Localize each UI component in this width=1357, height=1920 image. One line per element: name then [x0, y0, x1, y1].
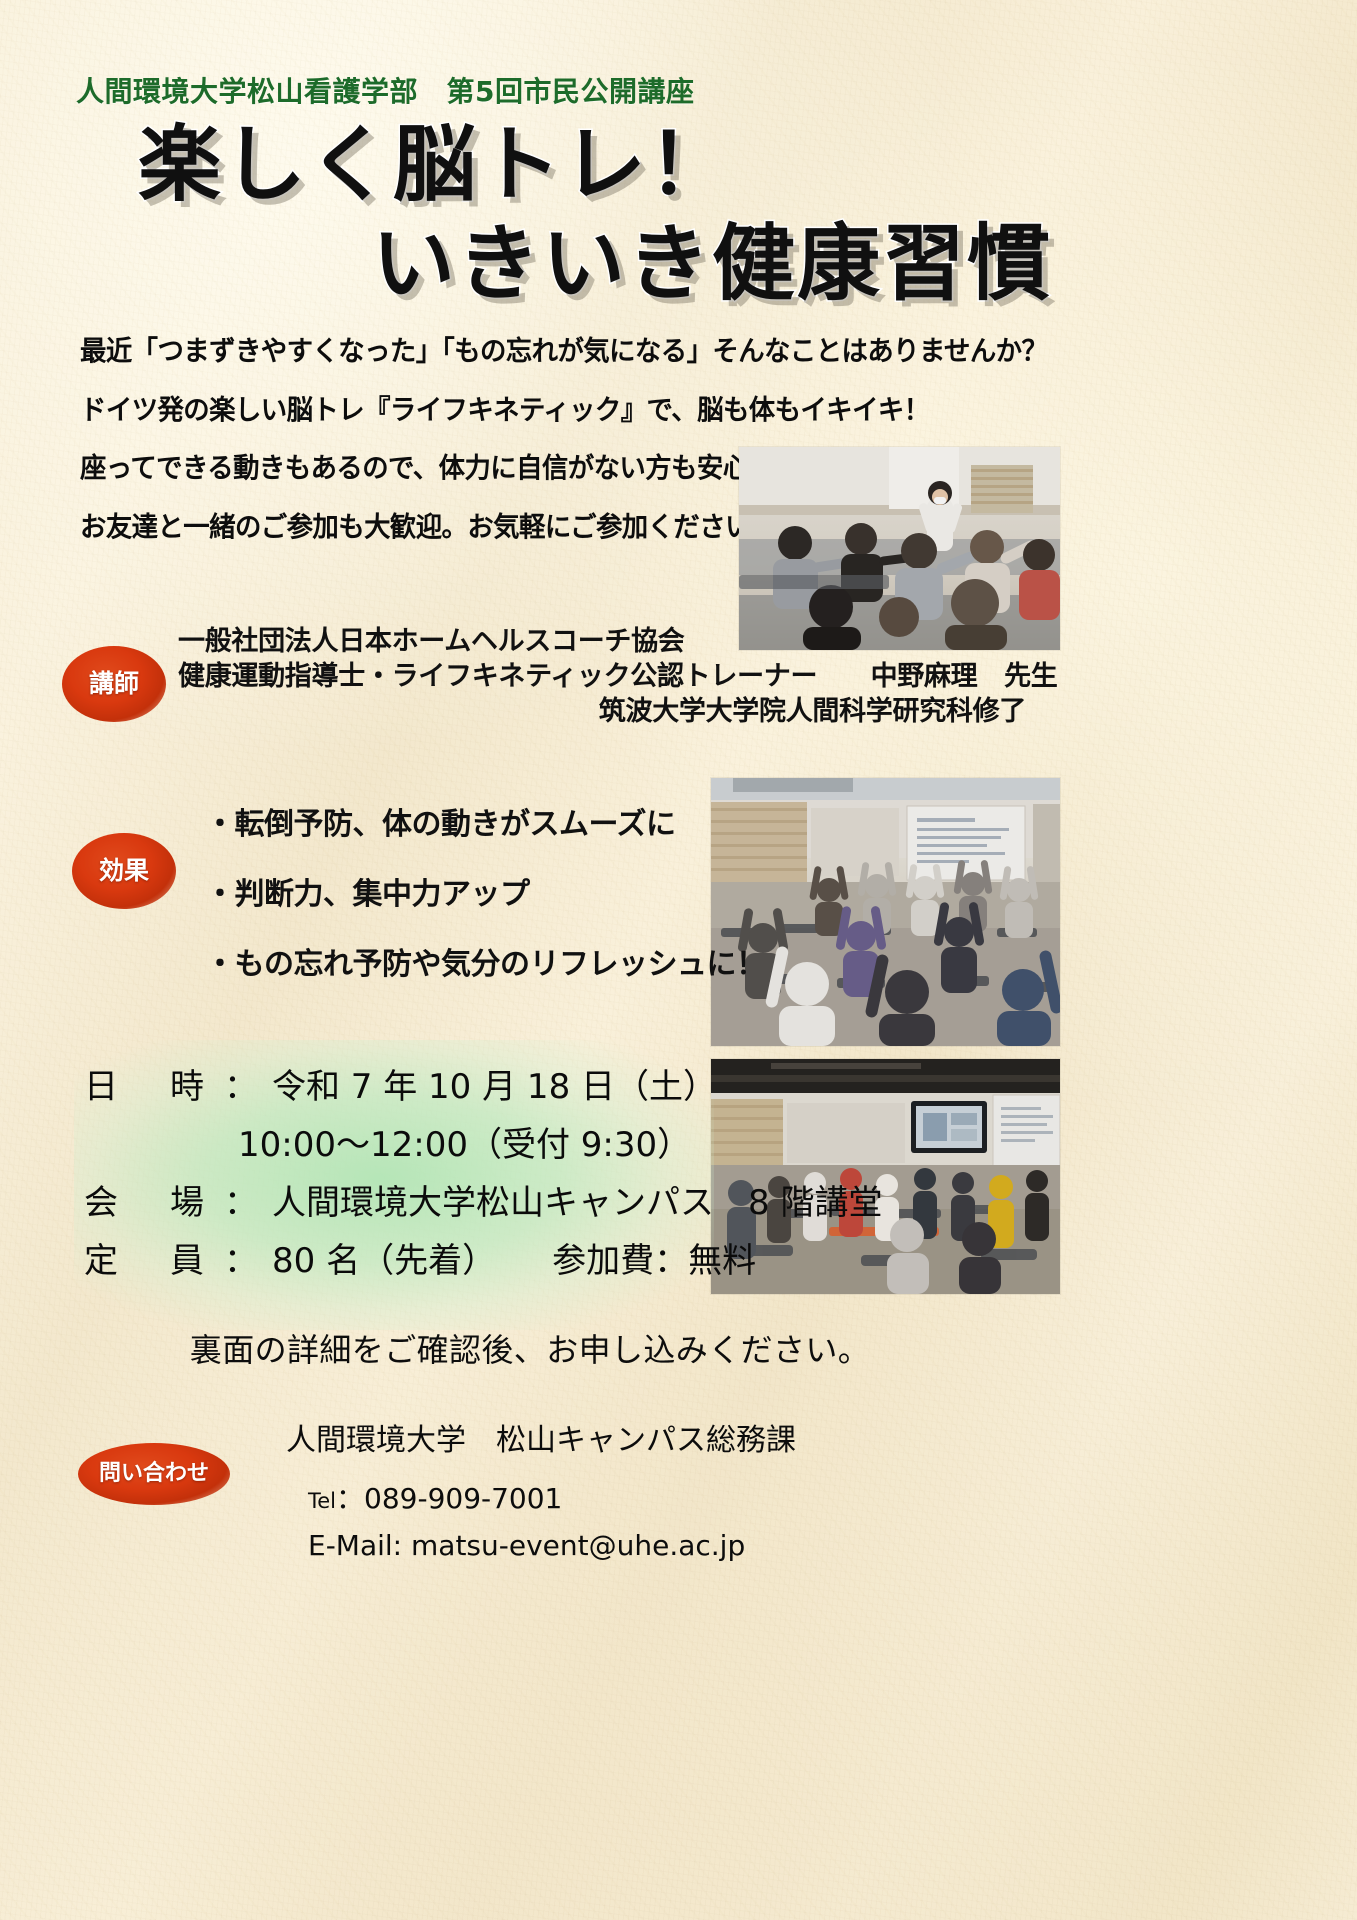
poster-title: 楽しく脳トレ！ いきいき健康習慣 [0, 118, 1000, 311]
badge-effect-label: 効果 [99, 858, 149, 884]
detail-colon-date: ： [224, 1067, 258, 1107]
lead-line-2: ドイツ発の楽しい脳トレ『ライフキネティック』で、脳も体もイキイキ！ [80, 397, 925, 425]
poster-kicker: 人間環境大学松山看護学部 第5回市民公開講座 [76, 70, 695, 110]
detail-colon-venue: ： [224, 1183, 258, 1223]
effect-item-3: ・もの忘れ予防や気分のリフレッシュに！ [205, 950, 766, 980]
detail-row-capacity: 定 員：80 名（先着）参加費：無料 [84, 1244, 882, 1278]
title-line-1: 楽しく脳トレ！ [138, 118, 1000, 213]
detail-colon-fee: ： [654, 1241, 688, 1281]
effect-item-2: ・判断力、集中力アップ [205, 880, 766, 910]
detail-label-fee: 参加費 [552, 1241, 654, 1281]
event-details: 日 時：令和 7 年 10 月 18 日（土） 10:00～12:00（受付 9… [84, 1070, 882, 1302]
lead-line-1: 最近「つまずきやすくなった」「もの忘れが気になる」そんなことはありませんか？ [80, 338, 925, 366]
detail-row-date: 日 時：令和 7 年 10 月 18 日（土） [84, 1070, 882, 1104]
contact-tel-value: ：089-909-7001 [336, 1482, 562, 1515]
poster-content: 人間環境大学松山看護学部 第5回市民公開講座 楽しく脳トレ！ いきいき健康習慣 … [0, 0, 1357, 1920]
badge-contact: 問い合わせ [78, 1443, 230, 1505]
badge-effect: 効果 [72, 833, 176, 909]
contact-email-label: E-Mail: [308, 1529, 402, 1562]
contact-block: 人間環境大学 松山キャンパス総務課 Tel：089-909-7001 E-Mai… [286, 1415, 796, 1574]
apply-note: 裏面の詳細をご確認後、お申し込みください。 [0, 1325, 1060, 1371]
contact-email: E-Mail: matsu-event@uhe.ac.jp [286, 1529, 796, 1562]
effect-item-1: ・転倒予防、体の動きがスムーズに [205, 810, 766, 840]
contact-org: 人間環境大学 松山キャンパス総務課 [286, 1415, 796, 1459]
title-line-2: いきいき健康習慣 [372, 217, 1000, 312]
lecturer-education: 筑波大学大学院人間科学研究科修了 [178, 694, 1058, 729]
badge-lecturer-label: 講師 [89, 671, 139, 697]
detail-label-venue: 会 場 [84, 1186, 224, 1220]
detail-value-time: 10:00～12:00（受付 9:30） [238, 1125, 691, 1165]
detail-label-capacity: 定 員 [84, 1244, 224, 1278]
effects-list: ・転倒予防、体の動きがスムーズに ・判断力、集中力アップ ・もの忘れ予防や気分の… [205, 810, 766, 1020]
detail-label-date: 日 時 [84, 1070, 224, 1104]
badge-contact-label: 問い合わせ [99, 1462, 209, 1485]
detail-value-capacity: 80 名（先着） [272, 1241, 496, 1281]
photo-1-image [739, 447, 1060, 650]
detail-row-time: 10:00～12:00（受付 9:30） [84, 1128, 882, 1162]
detail-value-venue: 人間環境大学松山キャンパス 8 階講堂 [272, 1183, 882, 1223]
detail-row-venue: 会 場：人間環境大学松山キャンパス 8 階講堂 [84, 1186, 882, 1220]
badge-lecturer: 講師 [62, 646, 166, 722]
lecturer-org: 一般社団法人日本ホームヘルスコーチ協会 [178, 624, 1058, 659]
detail-value-fee: 無料 [688, 1241, 756, 1281]
detail-colon-capacity: ： [224, 1241, 258, 1281]
contact-tel: Tel：089-909-7001 [286, 1477, 796, 1517]
contact-email-value: matsu-event@uhe.ac.jp [411, 1529, 745, 1562]
contact-tel-label: Tel [308, 1489, 336, 1513]
lecturer-title-and-name: 健康運動指導士・ライフキネティック公認トレーナー 中野麻理 先生 [178, 659, 1058, 694]
lecturer-block: 一般社団法人日本ホームヘルスコーチ協会 健康運動指導士・ライフキネティック公認ト… [178, 624, 1058, 729]
detail-value-date: 令和 7 年 10 月 18 日（土） [272, 1067, 717, 1107]
photo-lecture-hall-instructor [739, 447, 1060, 650]
